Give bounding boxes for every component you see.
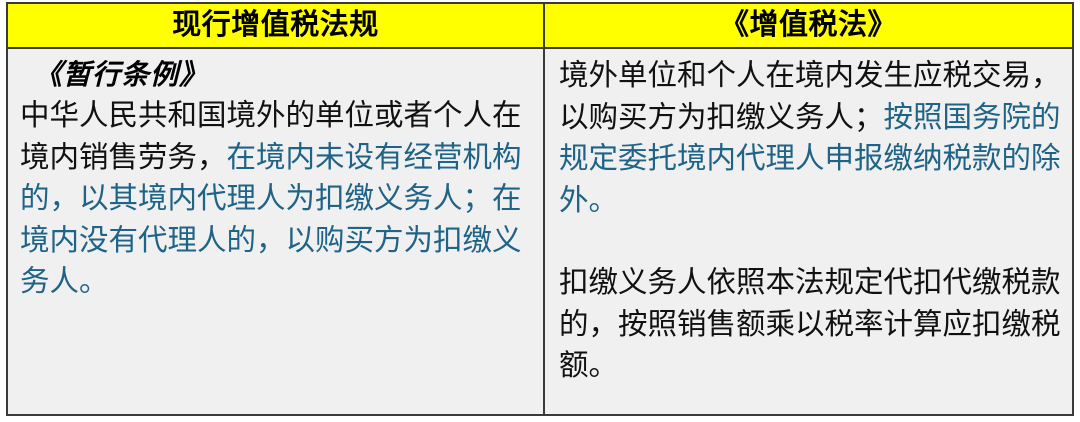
column-header-vat-law-label: 《增值税法》 xyxy=(549,11,1068,40)
column-header-current-regulations-label: 现行增值税法规 xyxy=(12,11,539,40)
column-header-current-regulations: 现行增值税法规 xyxy=(7,3,544,48)
right-cell-paragraph-2: 扣缴义务人依照本法规定代扣代缴税款的，按照销售额乘以税率计算应扣缴税额。 xyxy=(559,262,1064,387)
table-row: 《暂行条例》 中华人民共和国境外的单位或者个人在境内销售劳务，在境内未设有经营机… xyxy=(7,48,1073,415)
table-header: 现行增值税法规 《增值税法》 xyxy=(7,3,1073,48)
paragraph-spacer xyxy=(559,221,1064,262)
right-cell-paragraph-1: 境外单位和个人在境内发生应税交易，以购买方为扣缴义务人；按照国务院的规定委托境内… xyxy=(559,55,1064,221)
column-header-vat-law: 《增值税法》 xyxy=(544,3,1073,48)
table-body: 《暂行条例》 中华人民共和国境外的单位或者个人在境内销售劳务，在境内未设有经营机… xyxy=(7,48,1073,415)
vat-comparison-table: 现行增值税法规 《增值税法》 《暂行条例》 中华人民共和国境外的单位或者个人在境… xyxy=(6,2,1074,416)
right-cell-paragraph-2-black-segment: 扣缴义务人依照本法规定代扣代缴税款的，按照销售额乘以税率计算应扣缴税额。 xyxy=(559,266,1061,382)
left-cell-source-title: 《暂行条例》 xyxy=(20,55,535,95)
left-cell-body: 中华人民共和国境外的单位或者个人在境内销售劳务，在境内未设有经营机构的，以其境内… xyxy=(20,95,535,303)
comparison-table-page: 现行增值税法规 《增值税法》 《暂行条例》 中华人民共和国境外的单位或者个人在境… xyxy=(0,0,1080,422)
table-header-row: 现行增值税法规 《增值税法》 xyxy=(7,3,1073,48)
cell-vat-law: 境外单位和个人在境内发生应税交易，以购买方为扣缴义务人；按照国务院的规定委托境内… xyxy=(544,48,1073,415)
cell-current-regulations: 《暂行条例》 中华人民共和国境外的单位或者个人在境内销售劳务，在境内未设有经营机… xyxy=(7,48,544,415)
